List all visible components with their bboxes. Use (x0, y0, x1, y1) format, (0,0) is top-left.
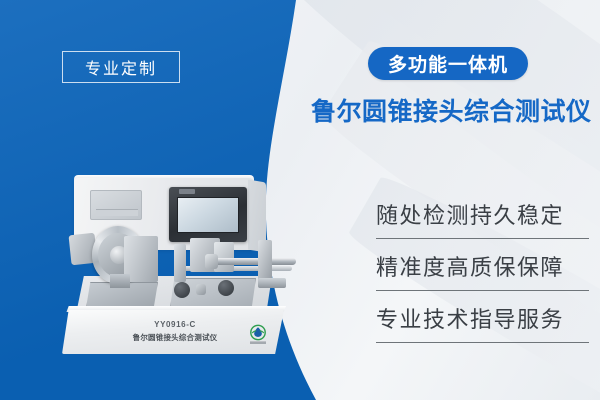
product-model-number: YY0916-C (100, 320, 250, 329)
custom-service-badge-label: 专业定制 (85, 55, 157, 79)
feature-item: 精准度高质保保障 (376, 248, 591, 300)
touchscreen-panel[interactable] (169, 187, 247, 242)
feature-divider (376, 342, 589, 343)
feature-divider (376, 238, 589, 239)
product-photo: YY0916-C 鲁尔圆锥接头综合测试仪 (62, 178, 297, 373)
promo-banner: 专业定制 多功能一体机 鲁尔圆锥接头综合测试仪 随处检测持久稳定 精准度高质保保… (0, 0, 600, 400)
feature-list: 随处检测持久稳定 精准度高质保保障 专业技术指导服务 (376, 196, 591, 352)
feature-item-label: 随处检测持久稳定 (376, 196, 591, 236)
adjustment-knob-right (218, 280, 234, 296)
rotary-stand (110, 274, 130, 288)
page-title-text: 鲁尔圆锥接头综合测试仪 (311, 92, 592, 128)
page-title: 鲁尔圆锥接头综合测试仪 (311, 92, 593, 128)
adjustment-knob-center (196, 284, 206, 295)
feature-divider (376, 290, 589, 291)
machine-access-panel (90, 190, 142, 220)
feature-item-label: 专业技术指导服务 (376, 300, 591, 340)
product-model-name: 鲁尔圆锥接头综合测试仪 (92, 332, 258, 343)
test-rod (208, 258, 296, 265)
adjustment-knob-left (174, 282, 190, 298)
multifunction-pill-badge: 多功能一体机 (368, 47, 528, 80)
brand-logo-icon (248, 324, 268, 346)
clamp-fixture-d-base (258, 278, 286, 288)
feature-item: 随处检测持久稳定 (376, 196, 591, 248)
feature-item-label: 精准度高质保保障 (376, 248, 591, 288)
touchscreen-brand-mark (179, 189, 195, 194)
clamp-fixture-a (174, 244, 186, 282)
touchscreen-display[interactable] (177, 197, 239, 233)
custom-service-badge: 专业定制 (62, 51, 180, 83)
multifunction-pill-label: 多功能一体机 (388, 50, 508, 77)
test-rod-knob (205, 254, 218, 269)
feature-item: 专业技术指导服务 (376, 300, 591, 352)
